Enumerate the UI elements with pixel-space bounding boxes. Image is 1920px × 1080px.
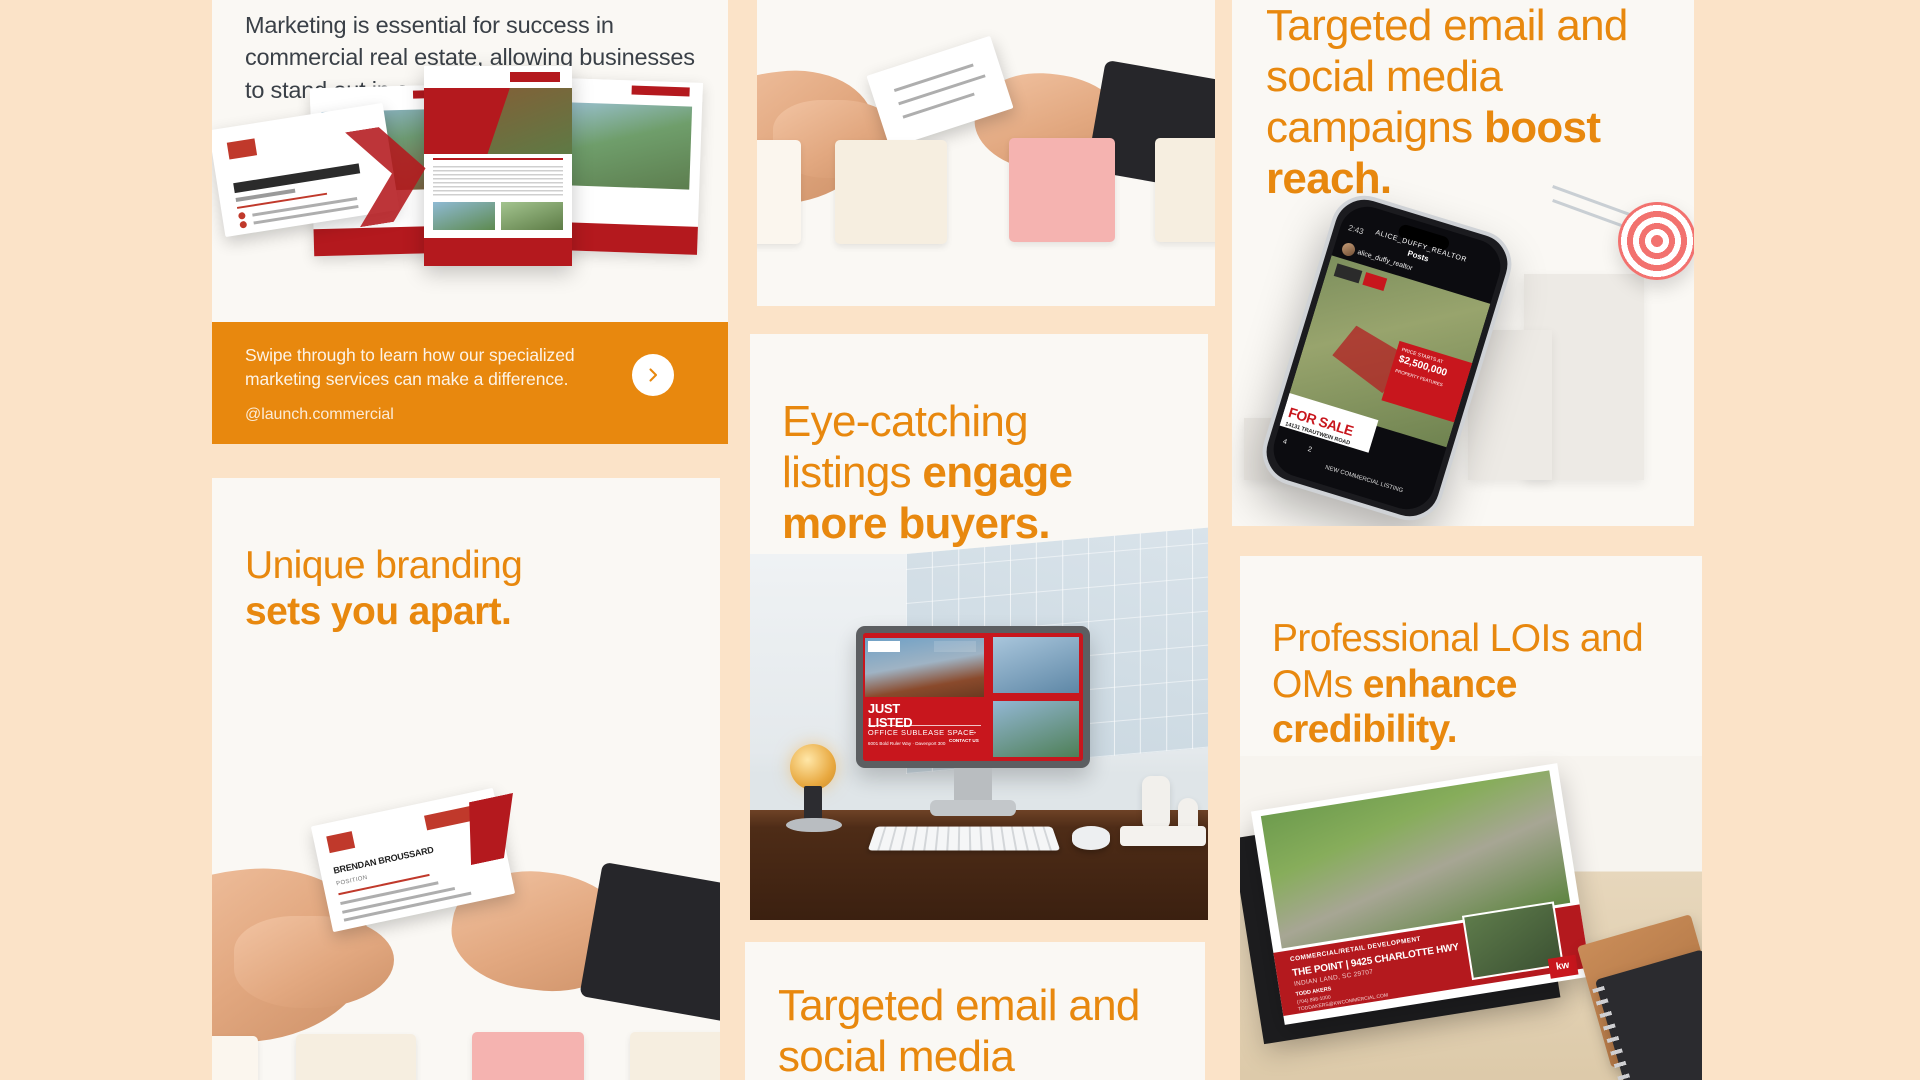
next-slide-button[interactable] bbox=[632, 354, 674, 396]
contact-label: CONTACT US bbox=[949, 738, 979, 743]
card-marketing-intro[interactable]: Marketing is essential for success in co… bbox=[212, 0, 728, 444]
flyer-collage-image bbox=[212, 66, 728, 286]
business-card-handoff-image: BRENDAN BROUSSARD POSITION bbox=[212, 688, 720, 1080]
desktop-mockup-image: JUSTLISTED OFFICE SUBLEASE SPACE 6001 Bo… bbox=[750, 554, 1208, 920]
comment-count: 2 bbox=[1307, 446, 1313, 454]
mouse bbox=[1072, 826, 1110, 850]
chevron-right-icon bbox=[645, 367, 661, 383]
intro-cta-panel[interactable]: Swipe through to learn how our specializ… bbox=[212, 322, 728, 444]
arrow-right-icon: → bbox=[969, 726, 978, 736]
kw-badge bbox=[1362, 272, 1387, 291]
phone-mockup-image: 2:43 ALICE_DUFFY_REALTOR Posts alice_duf… bbox=[1232, 170, 1694, 526]
listing-headline: Eye-catching listings engage more buyers… bbox=[782, 396, 1162, 549]
tray bbox=[1120, 826, 1206, 846]
brochure-mockup-image: COMMERCIAL/RETAIL DEVELOPMENT THE POINT … bbox=[1240, 756, 1702, 1080]
screen-subtitle: OFFICE SUBLEASE SPACE bbox=[868, 728, 975, 737]
branding-headline: Unique branding sets you apart. bbox=[245, 543, 665, 634]
vase bbox=[1142, 776, 1170, 830]
business-card-handoff-image-top bbox=[757, 0, 1215, 306]
screen-address: 6001 Bold Ruler Way · Davenport 300 bbox=[868, 741, 945, 747]
monitor: JUSTLISTED OFFICE SUBLEASE SPACE 6001 Bo… bbox=[856, 626, 1090, 768]
target-icon bbox=[1618, 202, 1694, 280]
card-unique-branding[interactable]: Unique branding sets you apart. BRENDAN … bbox=[212, 478, 720, 1080]
post-caption: NEW COMMERCIAL LISTING bbox=[1324, 465, 1403, 494]
card-targeted-email-phone[interactable]: Targeted email and social media campaign… bbox=[1232, 0, 1694, 526]
card-eye-catching-listings[interactable]: Eye-catching listings engage more buyers… bbox=[750, 334, 1208, 920]
card-professional-lois[interactable]: Professional LOIs and OMs enhance credib… bbox=[1240, 556, 1702, 1080]
light-bulb bbox=[790, 744, 836, 790]
kw-logo: kw bbox=[1547, 954, 1578, 978]
intro-handle: @launch.commercial bbox=[245, 406, 394, 424]
business-card-position: POSITION bbox=[336, 875, 368, 887]
like-count: 4 bbox=[1282, 438, 1288, 446]
card-targeted-email-bottom[interactable]: Targeted email and social media bbox=[745, 942, 1205, 1080]
intro-cta-text: Swipe through to learn how our specializ… bbox=[245, 344, 605, 391]
avatar bbox=[1340, 241, 1356, 257]
loi-headline: Professional LOIs and OMs enhance credib… bbox=[1272, 616, 1682, 753]
duffy-badge bbox=[1334, 263, 1363, 283]
branding-headline-bold: sets you apart. bbox=[245, 590, 511, 633]
branding-headline-regular: Unique branding bbox=[245, 544, 522, 587]
keyboard bbox=[868, 827, 1061, 851]
card-business-card-handoff-top[interactable] bbox=[757, 0, 1215, 306]
bottom-headline: Targeted email and social media bbox=[778, 980, 1178, 1080]
